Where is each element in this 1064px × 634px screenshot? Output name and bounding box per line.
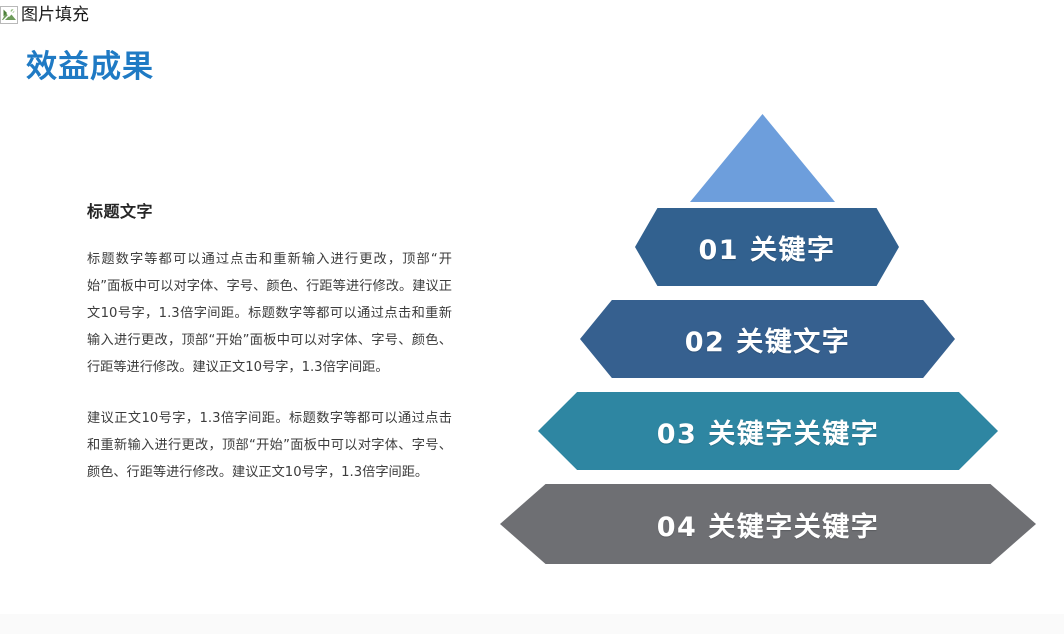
pyramid-level-3-label: 03 关键字关键字 [657,412,879,451]
left-text-column: 标题文字 标题数字等都可以通过点击和重新输入进行更改，顶部“开始”面板中可以对字… [87,198,452,486]
body-paragraph-2: 建议正文10号字，1.3倍字间距。标题数字等都可以通过点击和重新输入进行更改，顶… [87,405,452,486]
body-paragraph-1: 标题数字等都可以通过点击和重新输入进行更改，顶部“开始”面板中可以对字体、字号、… [87,246,452,381]
pyramid-level-1[interactable]: 01 关键字 [635,208,899,286]
text-column-heading: 标题文字 [87,198,452,222]
pyramid-diagram: 01 关键字 02 关键文字 03 关键字关键字 04 关键字关键字 [460,104,1064,594]
page-title: 效益成果 [26,41,154,86]
bottom-divider-band [0,614,1064,634]
pyramid-level-2-label: 02 关键文字 [685,320,850,359]
broken-image-icon [0,6,18,24]
image-placeholder[interactable]: 图片填充 [0,6,89,24]
pyramid-level-4-label: 04 关键字关键字 [657,505,879,544]
pyramid-level-2[interactable]: 02 关键文字 [580,300,955,378]
pyramid-level-4[interactable]: 04 关键字关键字 [500,484,1036,564]
pyramid-level-3[interactable]: 03 关键字关键字 [538,392,998,470]
image-placeholder-label: 图片填充 [21,6,89,24]
pyramid-level-1-label: 01 关键字 [699,228,836,267]
